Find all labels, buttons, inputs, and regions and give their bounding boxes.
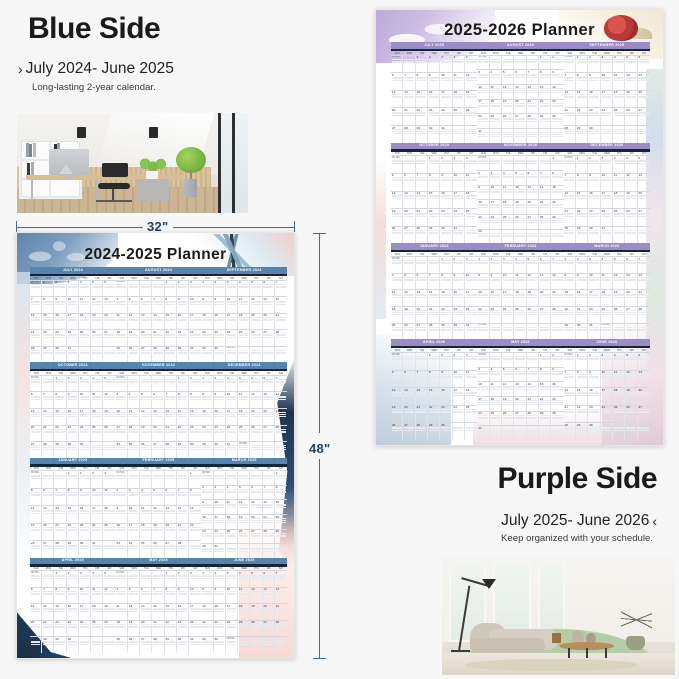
day-cell[interactable]: 21: [539, 200, 551, 214]
day-cell[interactable]: 18: [601, 290, 613, 306]
notes-cell[interactable]: NOTES: [201, 471, 213, 485]
day-cell[interactable]: 17: [214, 515, 226, 529]
day-cell[interactable]: 29: [201, 347, 213, 363]
day-cell[interactable]: 18: [226, 515, 238, 529]
day-cell[interactable]: 6: [165, 489, 177, 505]
day-cell[interactable]: 30: [440, 423, 452, 440]
day-cell[interactable]: 3: [79, 571, 91, 587]
day-cell[interactable]: 15: [440, 290, 452, 306]
notes-cell[interactable]: NOTES: [116, 471, 128, 487]
day-cell[interactable]: [613, 227, 625, 244]
day-cell[interactable]: [416, 156, 428, 173]
day-cell[interactable]: 29: [576, 126, 588, 143]
day-cell[interactable]: 20: [403, 406, 415, 423]
day-cell[interactable]: 13: [527, 186, 539, 200]
day-cell[interactable]: 23: [67, 621, 79, 637]
day-cell[interactable]: 25: [490, 114, 502, 128]
day-cell[interactable]: [539, 230, 551, 244]
day-cell[interactable]: 2: [214, 376, 226, 392]
day-cell[interactable]: 31: [477, 129, 489, 143]
day-cell[interactable]: 3: [601, 56, 613, 73]
day-cell[interactable]: 18: [91, 409, 103, 425]
day-cell[interactable]: [416, 353, 428, 370]
day-cell[interactable]: [638, 227, 650, 244]
notes-cell[interactable]: NOTES: [477, 353, 489, 367]
day-cell[interactable]: 6: [42, 489, 54, 505]
day-cell[interactable]: 23: [490, 307, 502, 323]
day-cell[interactable]: 16: [551, 85, 563, 99]
day-cell[interactable]: 4: [465, 353, 477, 370]
day-cell[interactable]: 17: [440, 91, 452, 108]
day-cell[interactable]: 16: [214, 604, 226, 620]
notes-cell[interactable]: NOTES: [30, 376, 42, 392]
day-cell[interactable]: 20: [103, 314, 115, 330]
day-cell[interactable]: 25: [391, 324, 403, 340]
day-cell[interactable]: 5: [502, 368, 514, 382]
day-cell[interactable]: 7: [416, 371, 428, 388]
day-cell[interactable]: 1: [177, 376, 189, 392]
day-cell[interactable]: [625, 324, 637, 340]
day-cell[interactable]: 29: [539, 412, 551, 426]
day-cell[interactable]: 4: [613, 353, 625, 370]
day-cell[interactable]: 13: [514, 85, 526, 99]
day-cell[interactable]: [601, 423, 613, 440]
day-cell[interactable]: 20: [638, 388, 650, 405]
day-cell[interactable]: 13: [638, 73, 650, 90]
day-cell[interactable]: 16: [477, 200, 489, 214]
day-cell[interactable]: 24: [189, 330, 201, 346]
day-cell[interactable]: 9: [453, 274, 465, 290]
day-cell[interactable]: 10: [465, 274, 477, 290]
day-cell[interactable]: 7: [152, 588, 164, 604]
day-cell[interactable]: 18: [453, 91, 465, 108]
day-cell[interactable]: 30: [588, 423, 600, 440]
day-cell[interactable]: 17: [189, 604, 201, 620]
day-cell[interactable]: 19: [140, 426, 152, 442]
day-cell[interactable]: 24: [226, 621, 238, 637]
day-cell[interactable]: [91, 637, 103, 653]
day-cell[interactable]: 30: [54, 347, 66, 363]
day-cell[interactable]: 4: [140, 489, 152, 505]
day-cell[interactable]: 13: [140, 314, 152, 330]
day-cell[interactable]: 27: [391, 126, 403, 143]
notes-cell[interactable]: NOTES: [391, 156, 403, 173]
day-cell[interactable]: [502, 56, 514, 70]
notes-cell[interactable]: NOTES: [391, 56, 403, 73]
day-cell[interactable]: 27: [30, 637, 42, 653]
day-cell[interactable]: 2: [551, 56, 563, 70]
day-cell[interactable]: 31: [477, 426, 489, 440]
day-cell[interactable]: 24: [440, 108, 452, 125]
day-cell[interactable]: 24: [601, 108, 613, 125]
day-cell[interactable]: 8: [201, 392, 213, 408]
day-cell[interactable]: 16: [201, 515, 213, 529]
day-cell[interactable]: 23: [440, 209, 452, 226]
day-cell[interactable]: 9: [551, 70, 563, 84]
day-cell[interactable]: 6: [152, 392, 164, 408]
day-cell[interactable]: 25: [91, 621, 103, 637]
day-cell[interactable]: 7: [551, 257, 563, 273]
day-cell[interactable]: 28: [42, 442, 54, 458]
day-cell[interactable]: 25: [79, 330, 91, 346]
day-cell[interactable]: 2: [588, 353, 600, 370]
day-cell[interactable]: 6: [103, 281, 115, 297]
day-cell[interactable]: 21: [564, 406, 576, 423]
day-cell[interactable]: 5: [391, 174, 403, 191]
day-cell[interactable]: [263, 442, 275, 458]
day-cell[interactable]: 21: [416, 406, 428, 423]
day-cell[interactable]: [128, 571, 140, 587]
day-cell[interactable]: 31: [189, 637, 201, 653]
day-cell[interactable]: 5: [250, 571, 262, 587]
day-cell[interactable]: 1: [539, 353, 551, 367]
day-cell[interactable]: [527, 426, 539, 440]
day-cell[interactable]: 20: [42, 524, 54, 540]
day-cell[interactable]: 22: [564, 307, 576, 323]
day-cell[interactable]: [263, 471, 275, 485]
day-cell[interactable]: 5: [403, 274, 415, 290]
day-cell[interactable]: 20: [165, 524, 177, 540]
day-cell[interactable]: [514, 156, 526, 170]
day-cell[interactable]: 8: [54, 588, 66, 604]
day-cell[interactable]: 29: [67, 541, 79, 557]
day-cell[interactable]: 14: [177, 506, 189, 522]
day-cell[interactable]: 9: [428, 73, 440, 90]
day-cell[interactable]: 1: [416, 56, 428, 73]
day-cell[interactable]: 31: [588, 324, 600, 340]
day-cell[interactable]: 17: [453, 388, 465, 405]
day-cell[interactable]: 12: [250, 588, 262, 604]
day-cell[interactable]: 28: [539, 215, 551, 229]
day-cell[interactable]: 6: [514, 368, 526, 382]
day-cell[interactable]: 16: [177, 604, 189, 620]
day-cell[interactable]: 5: [152, 489, 164, 505]
day-cell[interactable]: 14: [527, 382, 539, 396]
day-cell[interactable]: [490, 426, 502, 440]
day-cell[interactable]: 29: [576, 227, 588, 244]
day-cell[interactable]: 20: [140, 621, 152, 637]
day-cell[interactable]: 17: [79, 604, 91, 620]
day-cell[interactable]: 31: [79, 442, 91, 458]
day-cell[interactable]: 4: [613, 156, 625, 173]
day-cell[interactable]: [263, 544, 275, 558]
day-cell[interactable]: 14: [638, 274, 650, 290]
day-cell[interactable]: 27: [263, 426, 275, 442]
day-cell[interactable]: 23: [116, 541, 128, 557]
day-cell[interactable]: 11: [79, 297, 91, 313]
day-cell[interactable]: 6: [539, 257, 551, 273]
day-cell[interactable]: 3: [477, 368, 489, 382]
day-cell[interactable]: 13: [263, 588, 275, 604]
day-cell[interactable]: 10: [189, 297, 201, 313]
day-cell[interactable]: 21: [416, 209, 428, 226]
day-cell[interactable]: [551, 426, 563, 440]
day-cell[interactable]: [238, 544, 250, 558]
day-cell[interactable]: 26: [527, 307, 539, 323]
day-cell[interactable]: 11: [116, 604, 128, 620]
day-cell[interactable]: 3: [477, 70, 489, 84]
day-cell[interactable]: 17: [91, 506, 103, 522]
day-cell[interactable]: 19: [502, 397, 514, 411]
day-cell[interactable]: 7: [165, 392, 177, 408]
day-cell[interactable]: 9: [588, 371, 600, 388]
day-cell[interactable]: 15: [165, 314, 177, 330]
day-cell[interactable]: 17: [502, 290, 514, 306]
day-cell[interactable]: 4: [91, 571, 103, 587]
day-cell[interactable]: 11: [601, 274, 613, 290]
day-cell[interactable]: 17: [189, 314, 201, 330]
day-cell[interactable]: 30: [551, 114, 563, 128]
day-cell[interactable]: [625, 126, 637, 143]
day-cell[interactable]: [263, 637, 275, 653]
day-cell[interactable]: [238, 637, 250, 653]
day-cell[interactable]: [539, 129, 551, 143]
day-cell[interactable]: 11: [490, 85, 502, 99]
day-cell[interactable]: 28: [527, 412, 539, 426]
day-cell[interactable]: 15: [428, 388, 440, 405]
day-cell[interactable]: 15: [551, 186, 563, 200]
day-cell[interactable]: 26: [465, 108, 477, 125]
day-cell[interactable]: 14: [539, 186, 551, 200]
day-cell[interactable]: 10: [440, 73, 452, 90]
day-cell[interactable]: 13: [403, 388, 415, 405]
day-cell[interactable]: 12: [91, 297, 103, 313]
day-cell[interactable]: 26: [103, 426, 115, 442]
day-cell[interactable]: 14: [564, 91, 576, 108]
notes-cell[interactable]: NOTES: [564, 156, 576, 173]
day-cell[interactable]: 8: [576, 371, 588, 388]
notes-cell[interactable]: NOTES: [116, 571, 128, 587]
day-cell[interactable]: 13: [625, 274, 637, 290]
day-cell[interactable]: 2: [67, 571, 79, 587]
day-cell[interactable]: 11: [128, 409, 140, 425]
day-cell[interactable]: 10: [601, 73, 613, 90]
notes-cell[interactable]: NOTES: [238, 442, 250, 458]
day-cell[interactable]: 13: [416, 290, 428, 306]
day-cell[interactable]: 24: [226, 426, 238, 442]
day-cell[interactable]: 27: [416, 324, 428, 340]
day-cell[interactable]: 8: [54, 392, 66, 408]
day-cell[interactable]: 11: [238, 392, 250, 408]
day-cell[interactable]: [140, 376, 152, 392]
day-cell[interactable]: 12: [502, 85, 514, 99]
day-cell[interactable]: 14: [527, 85, 539, 99]
day-cell[interactable]: 22: [189, 524, 201, 540]
day-cell[interactable]: 14: [30, 314, 42, 330]
day-cell[interactable]: 3: [91, 471, 103, 487]
day-cell[interactable]: 12: [391, 192, 403, 209]
day-cell[interactable]: 6: [514, 70, 526, 84]
day-cell[interactable]: 27: [638, 406, 650, 423]
day-cell[interactable]: 1: [275, 471, 287, 485]
day-cell[interactable]: 11: [116, 314, 128, 330]
day-cell[interactable]: 24: [128, 541, 140, 557]
day-cell[interactable]: 17: [79, 409, 91, 425]
day-cell[interactable]: 29: [165, 637, 177, 653]
day-cell[interactable]: 3: [601, 353, 613, 370]
day-cell[interactable]: 24: [588, 307, 600, 323]
day-cell[interactable]: [551, 324, 563, 340]
day-cell[interactable]: 25: [613, 406, 625, 423]
day-cell[interactable]: 14: [165, 409, 177, 425]
day-cell[interactable]: 19: [128, 621, 140, 637]
day-cell[interactable]: 16: [428, 91, 440, 108]
day-cell[interactable]: 8: [165, 588, 177, 604]
day-cell[interactable]: [128, 376, 140, 392]
day-cell[interactable]: 3: [79, 376, 91, 392]
day-cell[interactable]: [514, 324, 526, 340]
day-cell[interactable]: 28: [527, 114, 539, 128]
day-cell[interactable]: 26: [613, 307, 625, 323]
day-cell[interactable]: 21: [263, 515, 275, 529]
day-cell[interactable]: 17: [226, 314, 238, 330]
day-cell[interactable]: 16: [453, 290, 465, 306]
day-cell[interactable]: 13: [250, 500, 262, 514]
day-cell[interactable]: 24: [91, 524, 103, 540]
day-cell[interactable]: [79, 637, 91, 653]
day-cell[interactable]: 13: [152, 409, 164, 425]
day-cell[interactable]: 6: [30, 392, 42, 408]
day-cell[interactable]: 13: [30, 604, 42, 620]
day-cell[interactable]: 14: [263, 500, 275, 514]
day-cell[interactable]: 7: [30, 297, 42, 313]
day-cell[interactable]: 10: [67, 297, 79, 313]
day-cell[interactable]: 7: [263, 486, 275, 500]
day-cell[interactable]: [42, 376, 54, 392]
day-cell[interactable]: [263, 347, 275, 363]
day-cell[interactable]: [103, 442, 115, 458]
day-cell[interactable]: 6: [30, 588, 42, 604]
day-cell[interactable]: [551, 129, 563, 143]
day-cell[interactable]: [638, 126, 650, 143]
day-cell[interactable]: 24: [116, 442, 128, 458]
day-cell[interactable]: 25: [613, 209, 625, 226]
notes-cell[interactable]: NOTES: [391, 353, 403, 370]
day-cell[interactable]: [140, 571, 152, 587]
day-cell[interactable]: 19: [391, 406, 403, 423]
day-cell[interactable]: 2: [588, 156, 600, 173]
day-cell[interactable]: [502, 426, 514, 440]
day-cell[interactable]: [152, 376, 164, 392]
day-cell[interactable]: 30: [67, 442, 79, 458]
day-cell[interactable]: 23: [453, 307, 465, 323]
day-cell[interactable]: 28: [275, 621, 287, 637]
day-cell[interactable]: 5: [250, 376, 262, 392]
day-cell[interactable]: 1: [440, 257, 452, 273]
day-cell[interactable]: 26: [502, 412, 514, 426]
day-cell[interactable]: 23: [551, 100, 563, 114]
day-cell[interactable]: 2: [551, 353, 563, 367]
day-cell[interactable]: [165, 376, 177, 392]
day-cell[interactable]: 27: [403, 227, 415, 244]
day-cell[interactable]: 20: [514, 397, 526, 411]
day-cell[interactable]: 5: [502, 70, 514, 84]
day-cell[interactable]: 31: [601, 227, 613, 244]
day-cell[interactable]: [502, 353, 514, 367]
day-cell[interactable]: 21: [177, 524, 189, 540]
day-cell[interactable]: [275, 637, 287, 653]
day-cell[interactable]: 4: [226, 486, 238, 500]
day-cell[interactable]: 19: [625, 91, 637, 108]
day-cell[interactable]: 13: [140, 604, 152, 620]
day-cell[interactable]: 25: [453, 108, 465, 125]
day-cell[interactable]: 4: [465, 156, 477, 173]
day-cell[interactable]: 15: [54, 409, 66, 425]
day-cell[interactable]: 13: [539, 274, 551, 290]
day-cell[interactable]: 3: [116, 392, 128, 408]
day-cell[interactable]: 8: [177, 392, 189, 408]
day-cell[interactable]: 28: [564, 126, 576, 143]
day-cell[interactable]: 4: [391, 274, 403, 290]
day-cell[interactable]: 24: [453, 209, 465, 226]
day-cell[interactable]: 26: [250, 426, 262, 442]
day-cell[interactable]: 30: [189, 442, 201, 458]
day-cell[interactable]: 7: [403, 73, 415, 90]
day-cell[interactable]: [625, 423, 637, 440]
day-cell[interactable]: 7: [275, 281, 287, 297]
day-cell[interactable]: 1: [42, 281, 54, 297]
day-cell[interactable]: 23: [428, 108, 440, 125]
day-cell[interactable]: [613, 423, 625, 440]
day-cell[interactable]: 22: [576, 108, 588, 125]
day-cell[interactable]: 20: [625, 290, 637, 306]
day-cell[interactable]: 2: [576, 257, 588, 273]
day-cell[interactable]: [250, 442, 262, 458]
day-cell[interactable]: 15: [201, 409, 213, 425]
day-cell[interactable]: [403, 56, 415, 73]
day-cell[interactable]: 21: [527, 397, 539, 411]
day-cell[interactable]: 23: [214, 621, 226, 637]
day-cell[interactable]: 6: [403, 371, 415, 388]
notes-cell[interactable]: NOTES: [391, 257, 403, 273]
day-cell[interactable]: 26: [128, 347, 140, 363]
day-cell[interactable]: [165, 471, 177, 487]
day-cell[interactable]: [514, 230, 526, 244]
day-cell[interactable]: 28: [263, 530, 275, 544]
day-cell[interactable]: 1: [551, 156, 563, 170]
day-cell[interactable]: [527, 56, 539, 70]
notes-cell[interactable]: NOTES: [30, 471, 42, 487]
day-cell[interactable]: 27: [514, 412, 526, 426]
day-cell[interactable]: 9: [79, 489, 91, 505]
day-cell[interactable]: [275, 442, 287, 458]
day-cell[interactable]: 22: [201, 330, 213, 346]
day-cell[interactable]: 10: [116, 409, 128, 425]
day-cell[interactable]: 12: [30, 506, 42, 522]
day-cell[interactable]: 4: [453, 56, 465, 73]
day-cell[interactable]: 2: [67, 376, 79, 392]
day-cell[interactable]: 14: [42, 409, 54, 425]
day-cell[interactable]: 10: [477, 85, 489, 99]
day-cell[interactable]: 19: [527, 290, 539, 306]
day-cell[interactable]: 19: [403, 307, 415, 323]
day-cell[interactable]: 5: [103, 376, 115, 392]
day-cell[interactable]: [238, 347, 250, 363]
day-cell[interactable]: 9: [67, 588, 79, 604]
day-cell[interactable]: 4: [601, 257, 613, 273]
day-cell[interactable]: 17: [226, 409, 238, 425]
day-cell[interactable]: 5: [103, 571, 115, 587]
day-cell[interactable]: 13: [30, 409, 42, 425]
day-cell[interactable]: 11: [490, 382, 502, 396]
day-cell[interactable]: 10: [601, 371, 613, 388]
day-cell[interactable]: 11: [613, 73, 625, 90]
day-cell[interactable]: [275, 544, 287, 558]
day-cell[interactable]: 6: [527, 171, 539, 185]
day-cell[interactable]: 20: [416, 307, 428, 323]
day-cell[interactable]: 6: [263, 281, 275, 297]
day-cell[interactable]: 3: [601, 156, 613, 173]
